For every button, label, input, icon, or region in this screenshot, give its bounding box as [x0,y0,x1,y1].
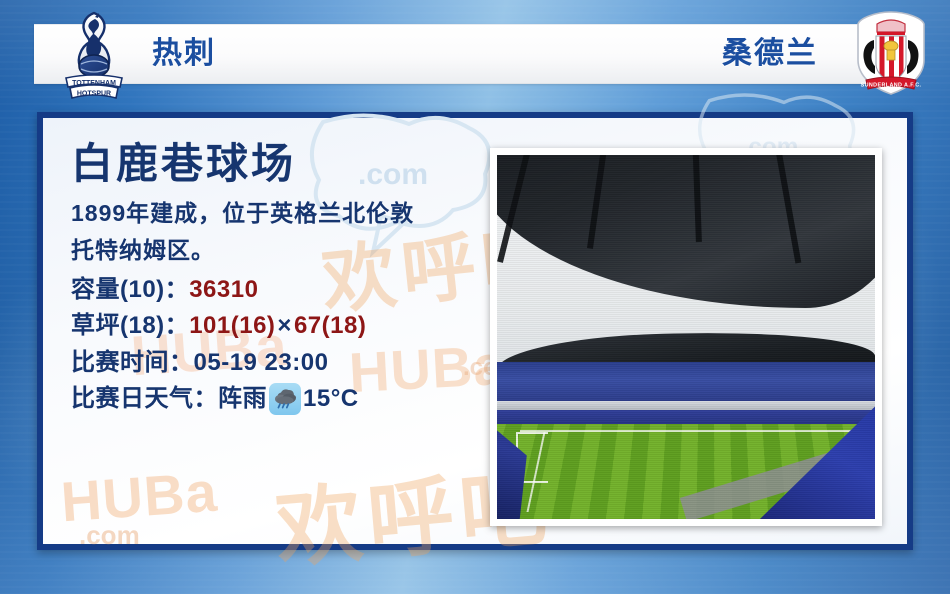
shower-rain-icon [269,383,301,415]
away-team-name: 桑德兰 [722,39,818,69]
photo-far-stand-seats [497,362,875,406]
capacity-row: 容量(10)：36310 [71,272,501,308]
match-time-row: 比赛时间：05-19 23:00 [71,345,501,381]
svg-text:SUNDERLAND A.F.C.: SUNDERLAND A.F.C. [861,83,922,89]
watermark-brand-en-lower: HUBa [59,459,220,535]
tottenham-hotspur-crest-icon: TOTTENHAM HOTSPUR [62,10,126,102]
stadium-photo-frame [490,148,882,526]
stadium-info-card: .com .com 欢呼吧 欢呼吧 HUBa HUBa HUBa .com .c… [37,112,913,550]
pitch-width-value: 67(18) [294,312,366,339]
home-team-name: 热刺 [152,39,216,69]
stadium-photo [497,155,875,519]
capacity-value: 36310 [189,276,258,303]
weather-row: 比赛日天气：阵雨 15°C [71,381,501,417]
match-info-graphic: 热刺 桑德兰 [0,0,950,594]
capacity-label: 容量(10)： [71,276,189,303]
temperature-value: 15°C [303,381,359,417]
sunderland-afc-crest-icon: SUNDERLAND A.F.C. [854,10,928,96]
watermark-domain-lower: .com [79,520,140,551]
stadium-info-block: 白鹿巷球场 1899年建成，位于英格兰北伦敦 托特纳姆区。 容量(10)：363… [71,140,501,418]
weather-value: 阵雨 [218,381,267,417]
pitch-separator: × [275,312,294,339]
stadium-description-line-2: 托特纳姆区。 [71,234,481,267]
pitch-label: 草坪(18)： [71,312,189,339]
stadium-description-line-1: 1899年建成，位于英格兰北伦敦 [71,197,481,230]
teams-header-bar: 热刺 桑德兰 [34,24,916,84]
pitch-row: 草坪(18)：101(16)×67(18) [71,308,501,344]
photo-pitch-line-top [520,430,853,432]
pitch-length-value: 101(16) [189,312,275,339]
match-time-label: 比赛时间： [71,349,194,376]
svg-text:HOTSPUR: HOTSPUR [77,91,111,98]
weather-label: 比赛日天气： [71,381,218,417]
svg-text:TOTTENHAM: TOTTENHAM [72,80,116,87]
stadium-name-title: 白鹿巷球场 [71,140,501,187]
match-time-value: 05-19 23:00 [194,349,329,376]
